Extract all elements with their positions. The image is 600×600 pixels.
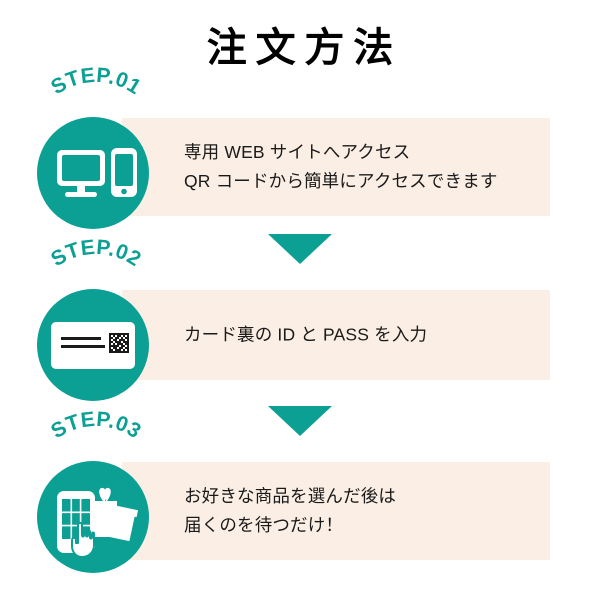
step-row-1: 専用 WEB サイトへアクセス QR コードから簡単にアクセスできます [0,80,600,232]
monitor-and-smartphone-icon [37,117,149,229]
page-title: 注文方法 [0,24,600,72]
svg-text:STEP.03: STEP.03 [47,408,145,444]
step-3-panel: お好きな商品を選んだ後は 届くのを待つだけ！ [122,462,550,560]
order-method-infographic: 注文方法 専用 WEB サイトへアクセス QR コードから簡単にアクセスできます [0,0,600,600]
card-with-qr-code-icon [37,289,149,401]
step-row-2: カード裏の ID と PASS を入力 [0,252,600,388]
step-2-label: STEP.02 [47,236,145,272]
step-3-description: お好きな商品を選んだ後は 届くのを待つだけ！ [184,482,536,540]
step-row-3: お好きな商品を選んだ後は 届くのを待つだけ！ [0,424,600,576]
step-1-badge-circle [37,117,149,229]
step-2-badge-circle [37,289,149,401]
step-2-panel: カード裏の ID と PASS を入力 [122,290,550,380]
svg-text:STEP.02: STEP.02 [47,236,145,272]
step-1-panel: 専用 WEB サイトへアクセス QR コードから簡単にアクセスできます [122,118,550,216]
step-3-label: STEP.03 [47,408,145,444]
step-1-description: 専用 WEB サイトへアクセス QR コードから簡単にアクセスできます [184,138,536,196]
step-3-badge-circle [37,461,149,573]
smartphone-tap-with-gifts-icon [37,461,149,573]
step-2-description: カード裏の ID と PASS を入力 [184,321,536,350]
